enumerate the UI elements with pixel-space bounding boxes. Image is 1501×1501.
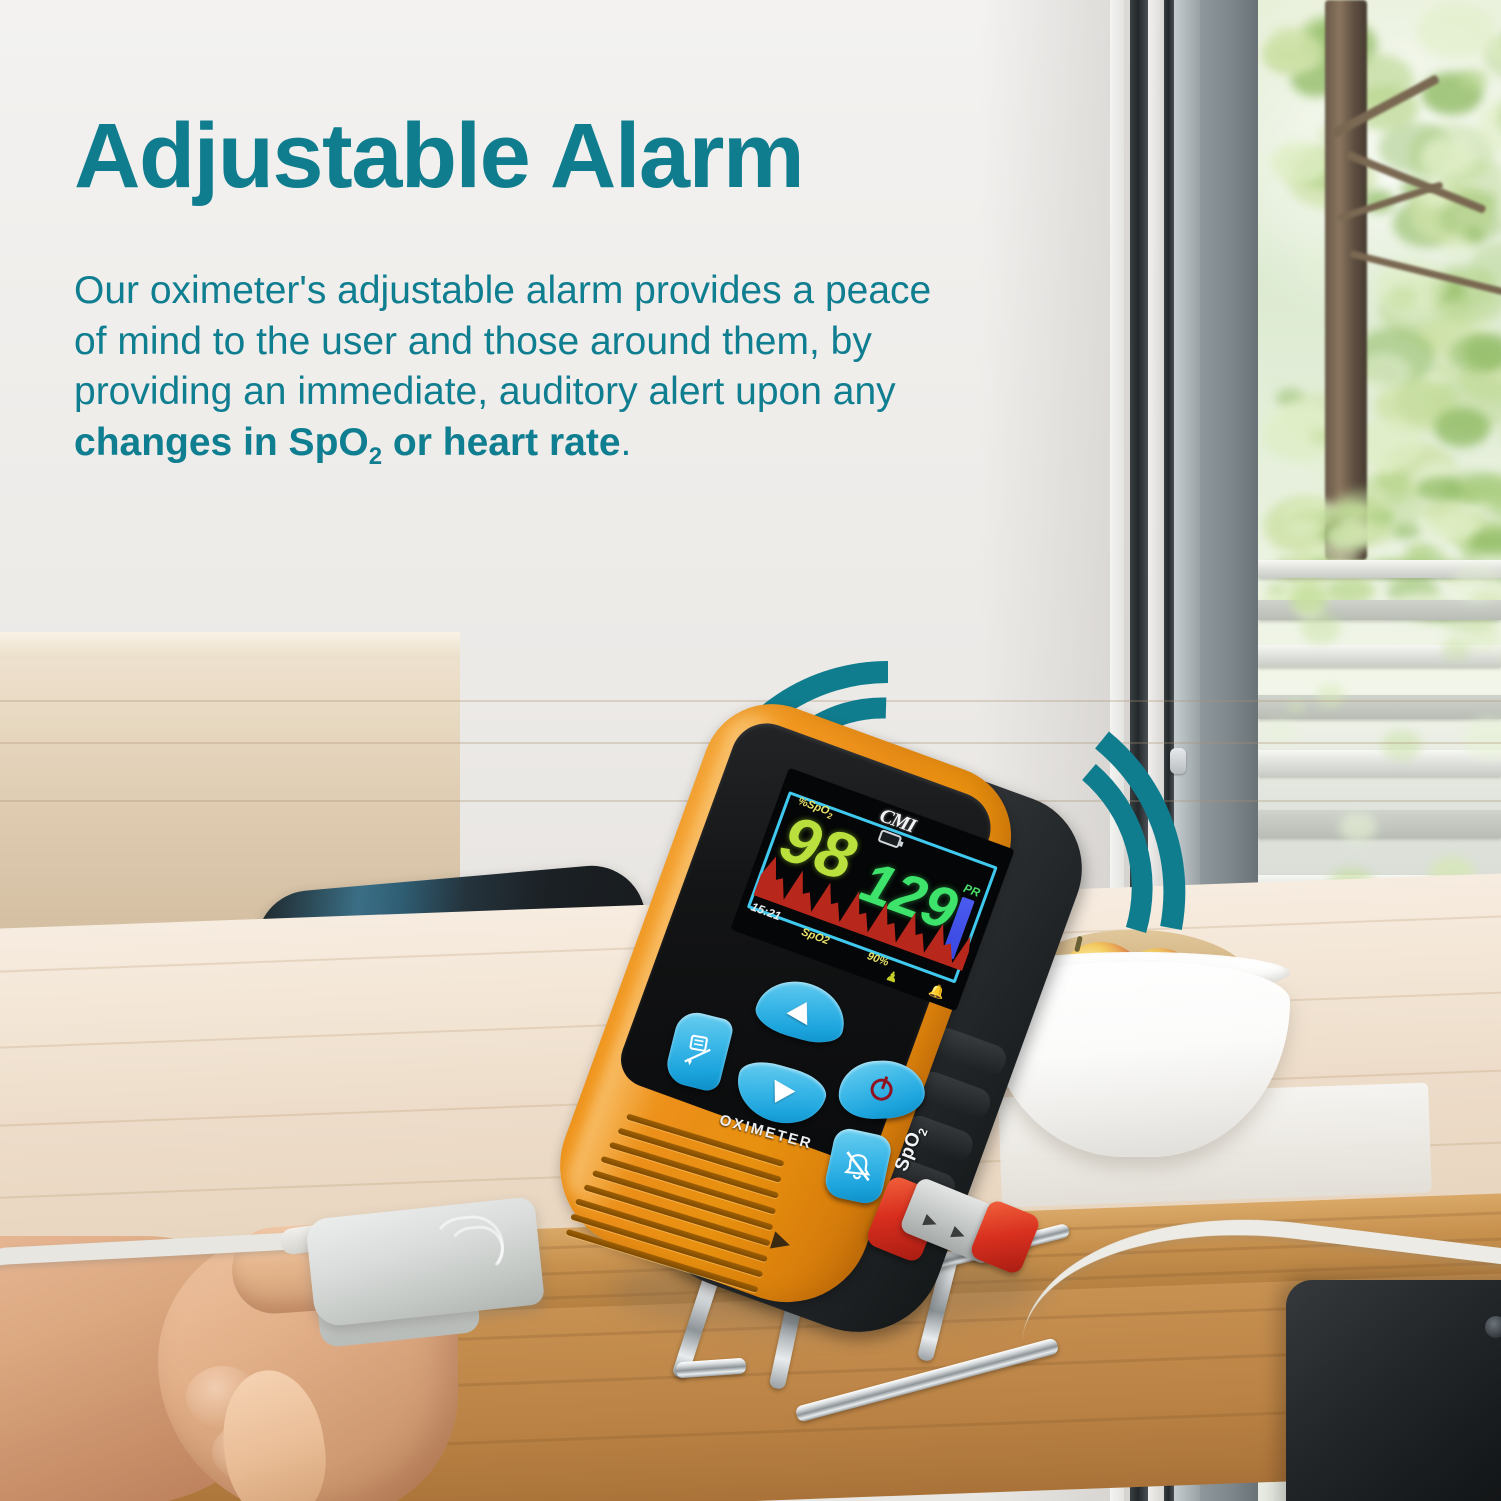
bell-slash-icon <box>840 1148 875 1185</box>
alarm-threshold-label: SpO2 <box>800 926 831 947</box>
menu-button[interactable] <box>663 1008 735 1093</box>
foliage-blob <box>1434 408 1490 447</box>
stone-step <box>1258 750 1501 776</box>
patient-icon: ♟ <box>883 968 899 987</box>
foliage-blob <box>1441 233 1474 256</box>
foliage-blob <box>1273 26 1301 45</box>
foliage-blob <box>1316 684 1345 707</box>
foliage-blob <box>1382 730 1420 760</box>
body-bold-tail: or heart rate <box>382 421 620 464</box>
body-copy: Our oximeter's adjustable alarm provides… <box>74 266 979 472</box>
foliage-blob <box>1290 584 1328 614</box>
foliage-blob <box>1442 637 1471 660</box>
foliage-blob <box>1420 140 1474 178</box>
triangle-up-icon <box>786 996 817 1025</box>
body-bold-lead: changes in SpO <box>74 421 369 464</box>
hand-with-finger-sensor <box>0 1040 600 1501</box>
power-icon <box>868 1076 896 1104</box>
stone-step <box>1258 810 1501 838</box>
finger-clip-sensor <box>305 1196 545 1327</box>
up-button[interactable] <box>751 971 853 1050</box>
foliage-blob <box>1452 563 1501 604</box>
back-counter-top <box>0 632 460 658</box>
body-line-2: of mind to the user and those around the… <box>74 320 872 363</box>
alarm-threshold-value: 90% <box>865 950 890 969</box>
foliage-blob <box>1385 491 1408 502</box>
foliage-blob <box>1416 477 1463 500</box>
tree-trunk <box>1325 0 1367 560</box>
body-period: . <box>621 421 632 464</box>
foliage-blob <box>1392 524 1421 539</box>
triangle-down-icon <box>765 1080 796 1109</box>
body-line-3: providing an immediate, auditory alert u… <box>74 370 896 413</box>
body-bold-subscript: 2 <box>369 443 382 470</box>
page-title: Adjustable Alarm <box>74 110 803 202</box>
body-line-1: Our oximeter's adjustable alarm provides… <box>74 269 931 312</box>
alarm-bell-icon: 🔔 <box>927 982 948 1003</box>
foliage-blob <box>1339 812 1376 842</box>
foliage-blob <box>1417 3 1496 59</box>
foliage-blob <box>1267 584 1286 594</box>
foliage-blob <box>1449 335 1501 373</box>
window-lock-upper <box>1170 748 1186 774</box>
scene-photograph: CMI %SpO2 PR 98 129 15:21 SpO2 90% ♟ <box>0 0 1501 1501</box>
foliage-blob <box>1467 624 1501 652</box>
menu-record-icon <box>681 1031 716 1070</box>
foliage-blob <box>1337 489 1392 516</box>
